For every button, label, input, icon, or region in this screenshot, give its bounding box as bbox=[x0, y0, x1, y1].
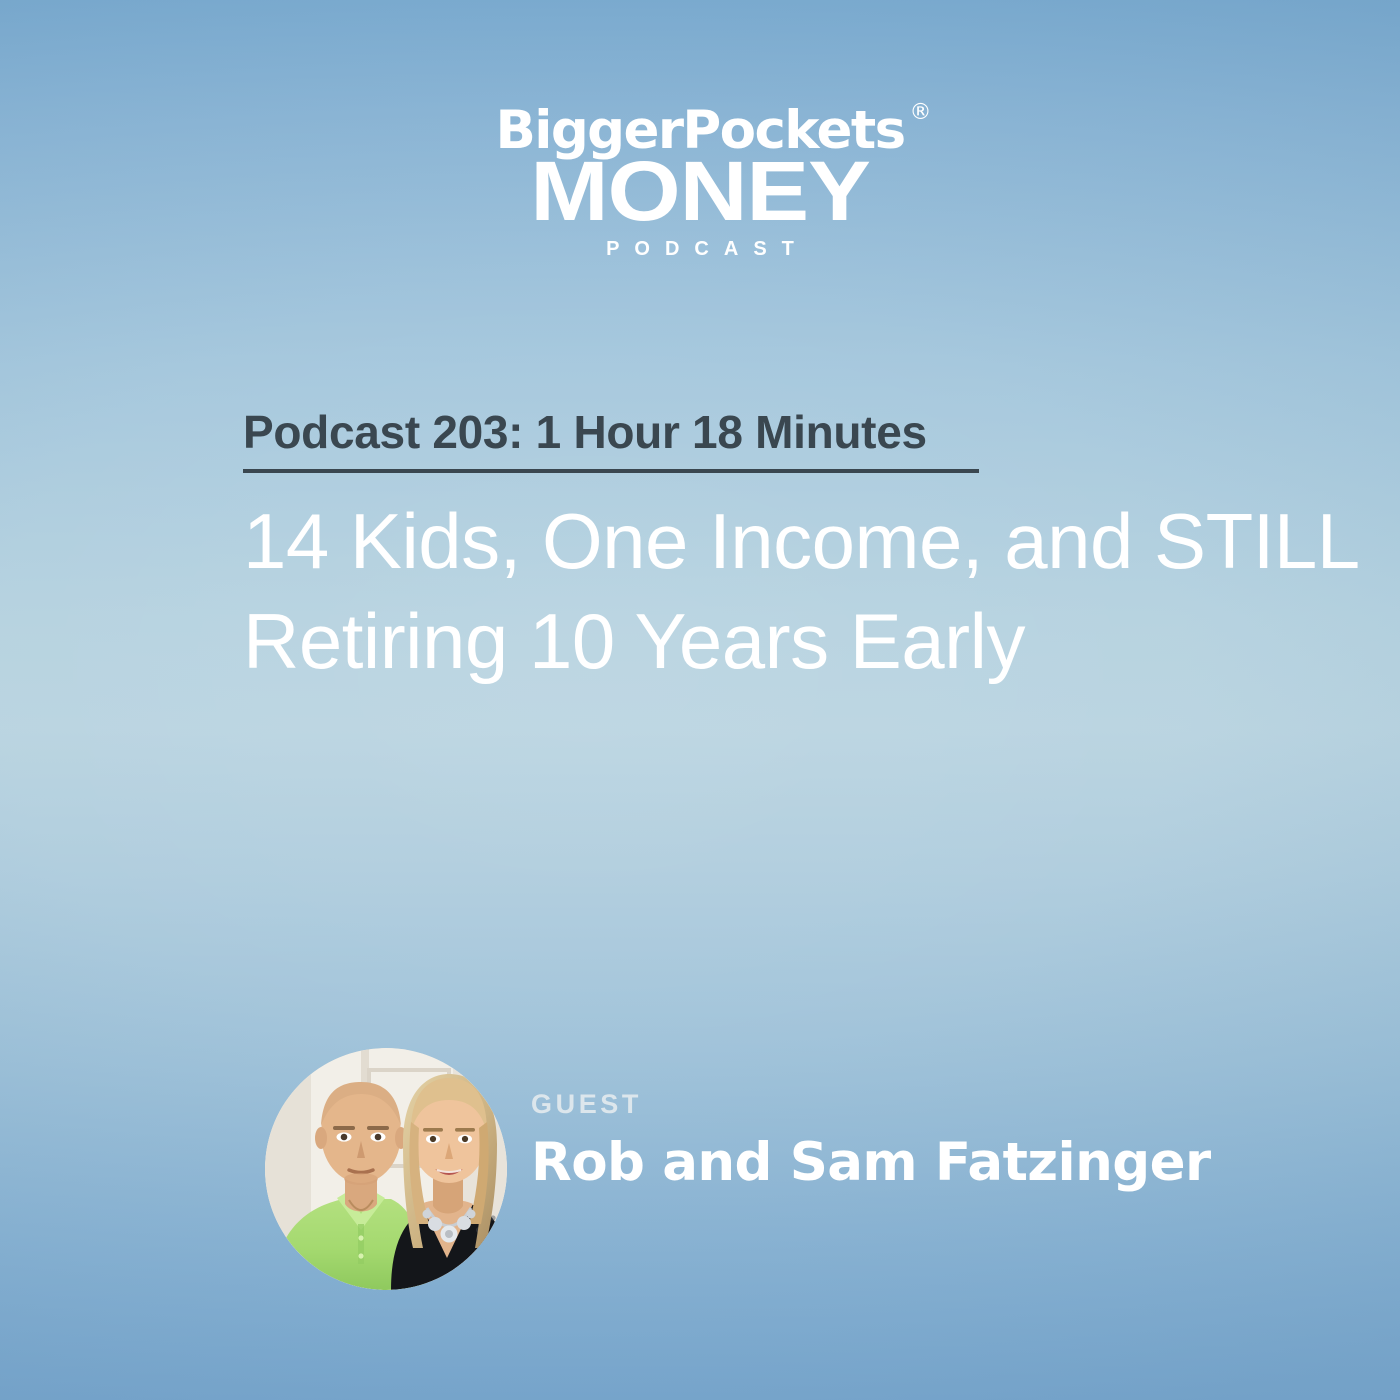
guest-avatar bbox=[265, 1048, 507, 1290]
guest-photo-illustration bbox=[265, 1048, 507, 1290]
logo-money-wordmark: MONEY bbox=[0, 153, 1400, 230]
episode-meta-line: Podcast 203: 1 Hour 18 Minutes bbox=[243, 408, 927, 458]
episode-title-line-2: Retiring 10 Years Early bbox=[243, 592, 1243, 692]
podcast-cover-art: BiggerPockets ® MONEY PODCAST Podcast 20… bbox=[0, 0, 1400, 1400]
guest-label: GUEST bbox=[531, 1091, 1210, 1118]
logo-podcast-label: PODCAST bbox=[0, 239, 1400, 259]
guest-name: Rob and Sam Fatzinger bbox=[531, 1135, 1210, 1191]
guest-info: GUEST Rob and Sam Fatzinger bbox=[531, 1091, 1210, 1191]
episode-title: 14 Kids, One Income, and STILL Retiring … bbox=[243, 492, 1243, 692]
biggerpockets-money-logo: BiggerPockets ® MONEY PODCAST bbox=[0, 104, 1400, 259]
episode-title-line-1: 14 Kids, One Income, and STILL bbox=[243, 492, 1243, 592]
episode-meta-underline bbox=[243, 469, 979, 473]
registered-trademark-icon: ® bbox=[910, 102, 932, 124]
